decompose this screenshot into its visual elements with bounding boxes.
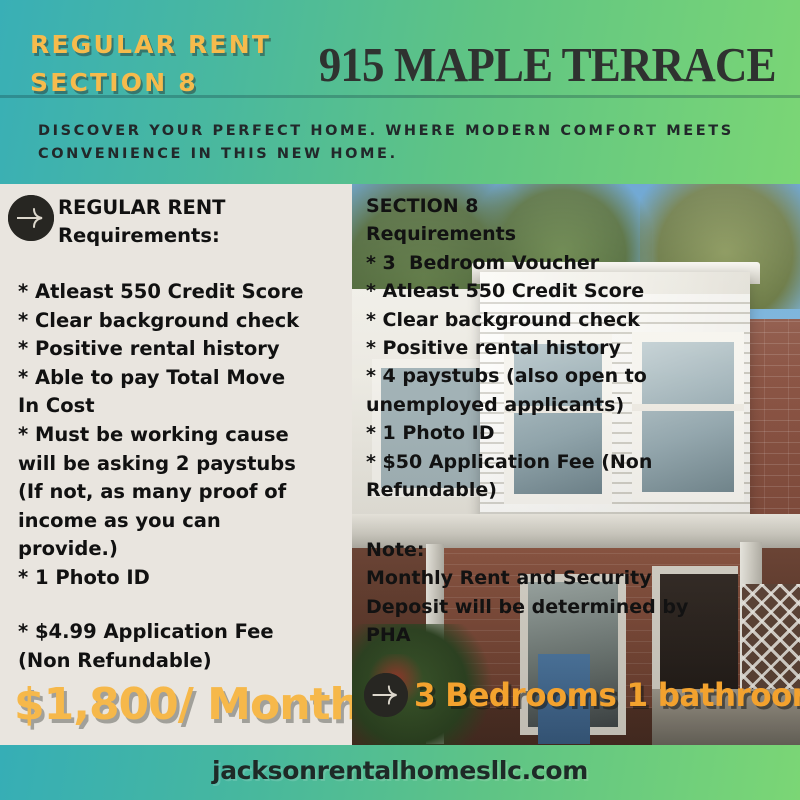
regular-rent-panel: REGULAR RENT Requirements: * Atleast 550…	[0, 184, 352, 745]
monthly-price: $1,800/ Month	[14, 680, 350, 730]
flyer-body: REGULAR RENT Requirements: * Atleast 550…	[0, 184, 800, 745]
kicker-line-regular-rent: REGULAR RENT	[30, 26, 350, 64]
arrow-right-icon	[364, 673, 408, 717]
regular-rent-application-fee: * $4.99 Application Fee (Non Refundable)	[18, 618, 348, 675]
section8-panel: SECTION 8 Requirements * 3 Bedroom Vouch…	[352, 184, 800, 745]
bedrooms-bathrooms-label: 3 Bedrooms 1 bathroom	[414, 673, 783, 717]
rental-flyer: REGULAR RENT SECTION 8 915 MAPLE TERRACE…	[0, 0, 800, 800]
kicker-line-section-8: SECTION 8	[30, 64, 350, 102]
regular-rent-requirements: * Atleast 550 Credit Score * Clear backg…	[18, 278, 348, 593]
flyer-header: REGULAR RENT SECTION 8 915 MAPLE TERRACE…	[0, 0, 800, 184]
header-tagline: DISCOVER YOUR PERFECT HOME. WHERE MODERN…	[38, 120, 778, 166]
website-url[interactable]: jacksonrentalhomesllc.com	[0, 756, 800, 785]
header-kicker: REGULAR RENT SECTION 8	[30, 26, 350, 102]
section8-note: Note: Monthly Rent and Security Deposit …	[366, 536, 796, 650]
section8-requirements: SECTION 8 Requirements * 3 Bedroom Vouch…	[366, 192, 796, 504]
flyer-footer: jacksonrentalhomesllc.com	[0, 745, 800, 800]
regular-rent-heading: REGULAR RENT Requirements:	[58, 194, 348, 250]
property-address-title: 915 MAPLE TERRACE	[319, 38, 776, 92]
arrow-right-icon	[8, 195, 54, 241]
